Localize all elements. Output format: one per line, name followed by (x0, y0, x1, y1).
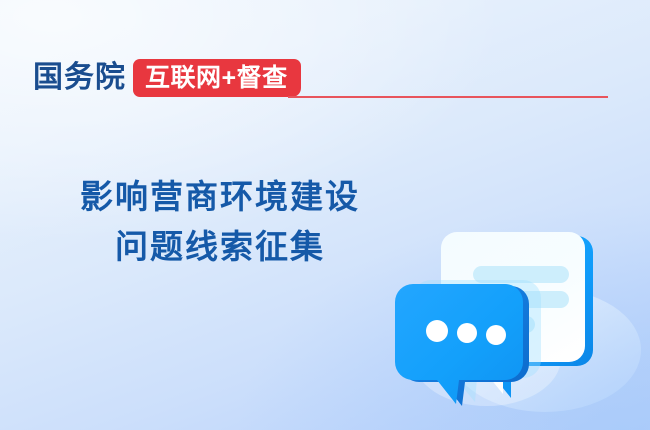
banner: 国务院 互联网+督查 影响营商环境建设 问题线索征集 (0, 0, 650, 430)
page-title-line-1: 影响营商环境建设 (0, 172, 440, 222)
typing-dot-3 (486, 325, 506, 345)
chat-bubbles-svg (395, 200, 650, 415)
header: 国务院 互联网+督查 (33, 55, 301, 101)
program-badge: 互联网+督查 (133, 59, 301, 97)
chat-bubbles-illustration (395, 200, 650, 415)
typing-dot-2 (457, 323, 477, 343)
organization-title: 国务院 (33, 63, 126, 93)
typing-dot-1 (426, 320, 448, 342)
page-title: 影响营商环境建设 问题线索征集 (0, 172, 440, 272)
header-divider-rule (288, 96, 608, 98)
page-title-line-2: 问题线索征集 (0, 222, 440, 272)
program-badge-label: 互联网+督查 (145, 66, 288, 91)
